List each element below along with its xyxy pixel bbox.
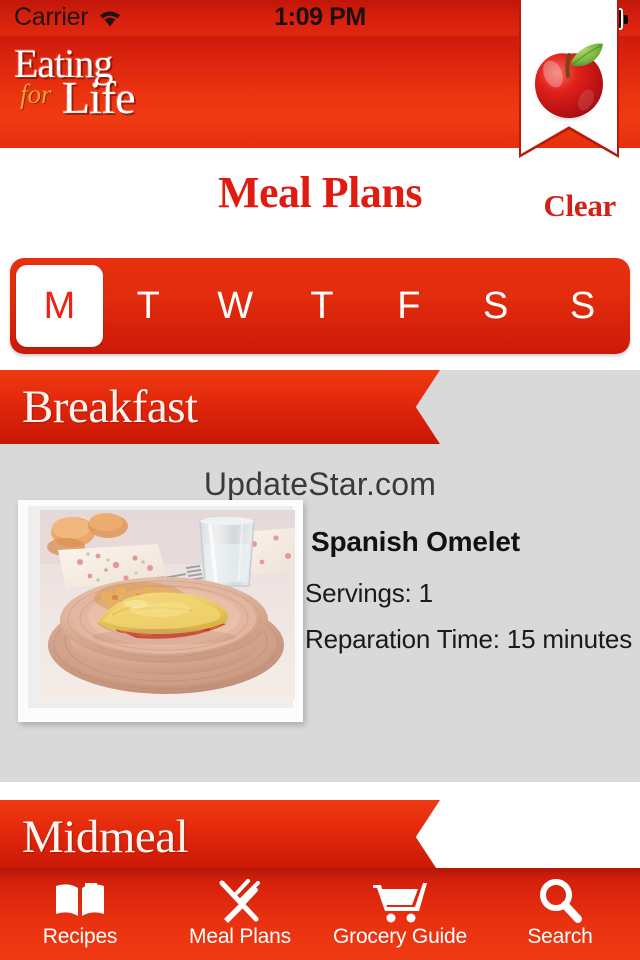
brand-line-for: for — [20, 81, 52, 108]
day-cell-thursday[interactable]: T — [279, 265, 366, 347]
tab-label-meal-plans: Meal Plans — [189, 925, 291, 949]
section-label-breakfast: Breakfast — [22, 376, 198, 438]
day-cell-saturday[interactable]: S — [452, 265, 539, 347]
day-cell-friday[interactable]: F — [365, 265, 452, 347]
apple-bookmark-ribbon[interactable] — [519, 0, 619, 158]
tab-label-grocery-guide: Grocery Guide — [333, 925, 467, 949]
fork-knife-icon — [212, 878, 268, 924]
tab-search[interactable]: Search — [480, 868, 640, 960]
recipe-name: Spanish Omelet — [305, 525, 635, 559]
section-banner-breakfast: Breakfast — [0, 370, 440, 444]
tab-bar[interactable]: Recipes Meal Plans — [0, 868, 640, 960]
spanish-omelet-photo — [40, 510, 295, 700]
day-selector[interactable]: M T W T F S S — [10, 258, 630, 354]
day-cell-monday[interactable]: M — [16, 265, 103, 347]
day-cell-tuesday[interactable]: T — [105, 265, 192, 347]
brand-logo: Eating for Life — [14, 44, 174, 140]
tab-grocery-guide[interactable]: Grocery Guide — [320, 868, 480, 960]
tab-meal-plans[interactable]: Meal Plans — [160, 868, 320, 960]
brand-line-life: Life — [62, 75, 135, 121]
section-banner-midmeal: Midmeal — [0, 800, 440, 874]
magnifier-icon — [535, 878, 585, 924]
tab-recipes[interactable]: Recipes — [0, 868, 160, 960]
tab-label-recipes: Recipes — [43, 925, 117, 949]
title-row: Meal Plans Clear — [0, 148, 640, 256]
open-book-icon — [52, 878, 108, 924]
tab-label-search: Search — [527, 925, 592, 949]
day-cell-sunday[interactable]: S — [539, 265, 626, 347]
day-cell-wednesday[interactable]: W — [192, 265, 279, 347]
section-label-midmeal: Midmeal — [22, 806, 188, 868]
recipe-prep-time: Reparation Time: 15 minutes — [305, 623, 635, 655]
clear-button[interactable]: Clear — [543, 189, 616, 223]
recipe-servings: Servings: 1 — [305, 577, 635, 609]
shopping-cart-icon — [371, 878, 429, 924]
watermark: UpdateStar.com — [0, 466, 640, 502]
apple-icon — [527, 32, 611, 127]
recipe-meta: Spanish Omelet Servings: 1 Reparation Ti… — [305, 525, 635, 655]
recipe-photo-frame[interactable] — [18, 500, 303, 722]
